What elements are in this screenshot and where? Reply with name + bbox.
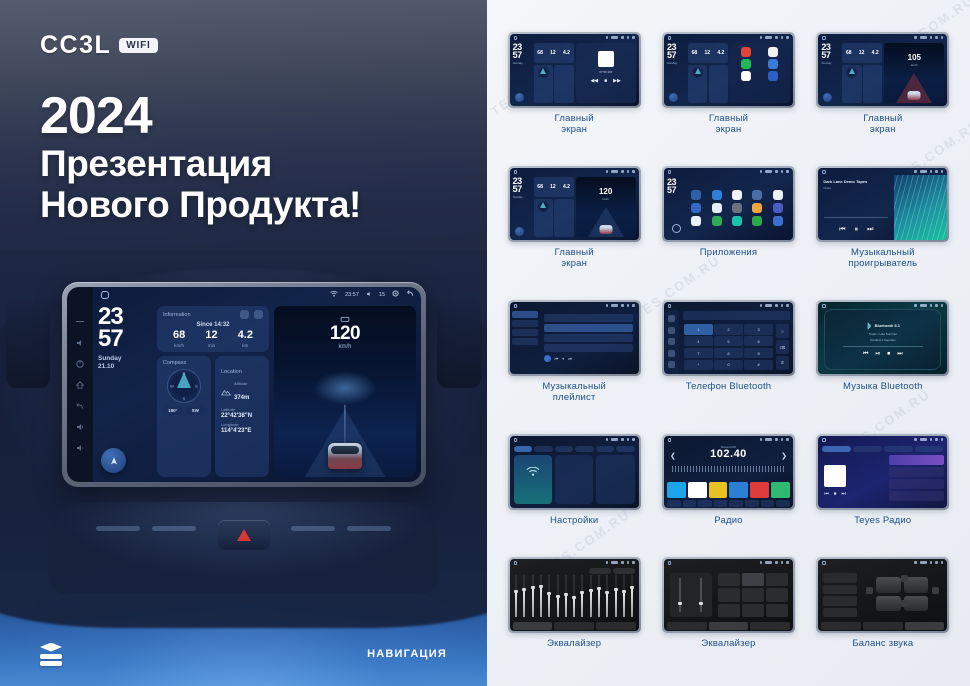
toolbar-button[interactable]: [714, 500, 728, 507]
number-display: [683, 311, 790, 320]
center-console: [48, 502, 439, 594]
mute-icon[interactable]: [75, 338, 85, 348]
widgets-column: 68 12 4.2: [842, 43, 882, 103]
next-icon[interactable]: ▶▶: [613, 78, 621, 84]
preset-button[interactable]: [823, 573, 857, 583]
playback-controls[interactable]: ⏮ ⏯ ⏹ ⏭: [863, 351, 903, 358]
list-item[interactable]: [889, 479, 945, 489]
preset-button[interactable]: [766, 573, 788, 586]
preset-button[interactable]: [742, 604, 764, 617]
stat-value: 12: [550, 50, 556, 56]
tab-eq[interactable]: [667, 622, 707, 630]
thumbnail-frame[interactable]: 23 57 Sunday 68 12 4.2: [508, 166, 641, 242]
app-icon[interactable]: [691, 190, 701, 200]
screen-thumbnail-home-music[interactable]: 23 57 Sunday 68 12 4.2: [510, 34, 639, 106]
preset-button[interactable]: [589, 568, 611, 574]
dialpad[interactable]: 1 2 3 4 5 6 7 8 9 *: [681, 321, 776, 373]
thumbnail-body: 23 57 Sunday 68 12 4.2: [510, 175, 639, 240]
volume-down-icon[interactable]: [75, 443, 85, 453]
clock-widget: 23 57 Sunday: [513, 177, 532, 237]
next-icon[interactable]: ⏭: [897, 351, 902, 358]
app-grid[interactable]: [684, 178, 790, 237]
app-icon[interactable]: [741, 59, 751, 69]
brand-name: CC3L: [40, 33, 111, 58]
favorite-icon[interactable]: ☆: [776, 324, 789, 338]
app-icon[interactable]: [773, 190, 783, 200]
dial-key[interactable]: 5: [714, 336, 743, 346]
thumbnail-caption: Музыкальный плейлист: [542, 381, 606, 403]
mini-player-bar[interactable]: ⏮ ⏸ ⏭: [544, 355, 633, 362]
information-card: 68 12 4.2: [534, 43, 574, 63]
app-icon[interactable]: [768, 59, 778, 69]
eq-band[interactable]: [515, 575, 518, 617]
speed-value: 105: [884, 53, 944, 62]
gallery-item[interactable]: Эквалайзер: [655, 557, 801, 676]
back-icon[interactable]: [75, 401, 85, 411]
more-tile[interactable]: [596, 455, 634, 504]
thumbnail-frame[interactable]: Bluetooth 5.1 Tropic • Like Summer Cardo…: [816, 300, 949, 376]
hero-footer: НАВИГАЦИЯ: [0, 622, 487, 686]
phone-side-rail[interactable]: [665, 310, 679, 373]
tab-tone[interactable]: [750, 622, 790, 630]
app-icon[interactable]: [768, 47, 778, 57]
next-icon[interactable]: ⏭: [867, 226, 873, 234]
playlist-body[interactable]: ⏮ ⏸ ⏭: [510, 309, 639, 374]
call-icon[interactable]: ✆: [776, 356, 789, 370]
play-pause-icon[interactable]: ⏯: [875, 351, 880, 358]
app-icon[interactable]: [768, 71, 778, 81]
thumbnail-body: 23 57 Sunday 68 12 4.2: [510, 41, 639, 106]
stop-icon[interactable]: ⏹: [834, 491, 837, 497]
navigation-fab-button[interactable]: [515, 227, 524, 236]
thumbnail-caption: Teyes Радио: [854, 515, 911, 526]
preset-button[interactable]: [823, 585, 857, 595]
preset-station[interactable]: [729, 482, 748, 498]
treble-slider[interactable]: [700, 578, 702, 611]
layers-icon: [40, 643, 62, 666]
app-icon[interactable]: [691, 216, 701, 226]
tone-sliders[interactable]: [670, 573, 712, 617]
preset-button[interactable]: [613, 568, 635, 574]
pause-icon[interactable]: ⏸: [562, 356, 564, 361]
wifi-badge: WIFI: [119, 38, 157, 53]
clock-minutes: 57: [513, 185, 532, 193]
call-log-icon[interactable]: [668, 350, 675, 357]
tab-eq[interactable]: [821, 622, 861, 630]
app-icon[interactable]: [773, 203, 783, 213]
stat-value: 4.2: [563, 184, 570, 190]
app-icon[interactable]: [732, 203, 742, 213]
seat-front-left[interactable]: [876, 577, 901, 593]
home-icon[interactable]: [75, 380, 85, 390]
equalizer-bands[interactable]: [515, 575, 634, 617]
screen-thumbnail-music-player[interactable]: Dark Lane Demo Tapes Drake ⏮ ⏸ ⏭: [818, 168, 947, 240]
screen-thumbnail-equalizer-bands[interactable]: [510, 559, 639, 631]
eq-band[interactable]: [531, 575, 534, 617]
toolbar-button[interactable]: [698, 500, 712, 507]
thumbnail-caption: Музыка Bluetooth: [843, 381, 923, 392]
settings-tabs[interactable]: [510, 443, 639, 452]
seat-rear-left[interactable]: [876, 596, 901, 612]
app-icon[interactable]: [732, 216, 742, 226]
gallery-item[interactable]: Recent FM ❮ ❯ 102.40: [655, 434, 801, 553]
dial-key[interactable]: 2: [714, 324, 743, 334]
preset-station[interactable]: [750, 482, 769, 498]
gallery-item[interactable]: 23 57: [655, 166, 801, 296]
balance-right-button[interactable]: [932, 587, 939, 594]
previous-icon[interactable]: ⏮: [839, 226, 845, 234]
compass-dial: [538, 67, 549, 78]
frequency-scale[interactable]: [672, 466, 785, 472]
gallery-item[interactable]: 23 57 Sunday 68 12 4.2: [501, 32, 647, 162]
gallery-item[interactable]: Эквалайзер: [501, 557, 647, 676]
app-icon[interactable]: [773, 216, 783, 226]
eq-band[interactable]: [548, 575, 551, 617]
player-pane[interactable]: Dark Lane Demo Tapes Drake ⏮ ⏸ ⏭: [818, 175, 947, 240]
balance-presets[interactable]: [823, 573, 857, 617]
list-item[interactable]: [889, 467, 945, 477]
bass-slider[interactable]: [679, 578, 681, 611]
thumbnail-frame[interactable]: [662, 557, 795, 633]
thumbnail-frame[interactable]: ⏮ ⏸ ⏭: [508, 300, 641, 376]
stat-value: 4.2: [872, 50, 879, 56]
information-card[interactable]: Information Since 14:32 68: [157, 306, 269, 352]
clock-minutes: 57: [98, 328, 152, 350]
tab-tone[interactable]: [905, 622, 945, 630]
thumbnail-frame[interactable]: [816, 557, 949, 633]
preset-button[interactable]: [718, 604, 740, 617]
stat-value: 4.2: [717, 50, 724, 56]
settings-icon[interactable]: [668, 361, 675, 368]
longitude-label: Longitude: [221, 422, 263, 427]
dial-key[interactable]: 4: [684, 336, 713, 346]
playback-controls[interactable]: ◀◀■▶▶: [576, 78, 636, 84]
app-icon[interactable]: [752, 203, 762, 213]
thumbnail-frame[interactable]: ⏮ ⏹ ⏭: [816, 434, 949, 510]
dial-key[interactable]: 6: [744, 336, 773, 346]
screen-thumbnail-teyes-radio[interactable]: ⏮ ⏹ ⏭: [818, 436, 947, 508]
eq-band[interactable]: [523, 575, 526, 617]
preset-button[interactable]: [766, 588, 788, 601]
list-item[interactable]: [544, 314, 633, 322]
head-unit[interactable]: 23:57 15: [62, 282, 426, 487]
thumbnail-frame[interactable]: 23 57: [662, 166, 795, 242]
radio-toolbar[interactable]: [667, 500, 790, 507]
station-list[interactable]: [889, 452, 948, 508]
eq-presets[interactable]: [589, 568, 635, 574]
power-icon[interactable]: [75, 359, 85, 369]
list-item[interactable]: [544, 334, 633, 342]
screen-thumbnail-home-apps[interactable]: 23 57 Sunday 68 12 4.2: [664, 34, 793, 106]
speed-unit: km/h: [576, 197, 636, 201]
tab-eq[interactable]: [513, 622, 553, 630]
clock-minutes: 57: [667, 186, 684, 194]
thumbnail-frame[interactable]: 23 57 Sunday 68 12 4.2: [662, 32, 795, 108]
clock-day: Sunday: [667, 62, 686, 66]
dial-key[interactable]: *: [684, 360, 713, 370]
status-bar: [510, 559, 639, 566]
compass-title: Compass: [163, 360, 205, 366]
preset-button[interactable]: [766, 604, 788, 617]
eq-tabs[interactable]: [821, 622, 944, 630]
hazard-light-button[interactable]: [218, 520, 270, 550]
carplay-tile[interactable]: [555, 455, 593, 504]
screen-thumbnail-radio[interactable]: Recent FM ❮ ❯ 102.40: [664, 436, 793, 508]
toolbar-button[interactable]: [729, 500, 743, 507]
eq-band[interactable]: [564, 575, 567, 617]
preset-grid[interactable]: [718, 573, 788, 617]
balance-up-button[interactable]: [901, 575, 908, 582]
preset-station[interactable]: [667, 482, 686, 498]
dial-key[interactable]: 0: [714, 360, 743, 370]
app-icon[interactable]: [691, 203, 701, 213]
app-icon[interactable]: [741, 47, 751, 57]
assistant-icon[interactable]: [392, 290, 399, 299]
navigation-fab-button[interactable]: [515, 93, 524, 102]
tab-sound-field[interactable]: [554, 622, 594, 630]
previous-icon[interactable]: ◀◀: [590, 78, 598, 84]
thumbnail-frame[interactable]: 23 57 Sunday 68 12 4.2: [508, 32, 641, 108]
next-icon[interactable]: ⏭: [568, 356, 572, 361]
stop-icon[interactable]: ⏹: [887, 351, 890, 358]
album-art: [544, 355, 551, 362]
category-item[interactable]: [512, 338, 538, 345]
toolbar-button[interactable]: [683, 500, 697, 507]
tab-sound-field[interactable]: [863, 622, 903, 630]
eq-band[interactable]: [606, 575, 609, 617]
eq-tabs[interactable]: [667, 622, 790, 630]
thumbnail-frame[interactable]: Dark Lane Demo Tapes Drake ⏮ ⏸ ⏭: [816, 166, 949, 242]
eq-band[interactable]: [581, 575, 584, 617]
clock-widget: 23 57: [667, 178, 684, 237]
eq-band[interactable]: [556, 575, 559, 617]
console-button[interactable]: [96, 526, 140, 531]
screen-thumbnail-equalizer-presets[interactable]: [664, 559, 793, 631]
gallery-item[interactable]: Баланс звука: [810, 557, 956, 676]
contacts-icon[interactable]: [668, 327, 675, 334]
dial-key[interactable]: 8: [714, 348, 743, 358]
bluetooth-player-card[interactable]: Bluetooth 5.1 Tropic • Like Summer Cardo…: [824, 309, 941, 370]
eq-band[interactable]: [622, 575, 625, 617]
toolbar-button[interactable]: [776, 500, 790, 507]
playback-controls[interactable]: ⏮ ⏸ ⏭: [818, 226, 894, 234]
gallery-item[interactable]: 1 2 3 4 5 6 7 8 9 *: [655, 300, 801, 430]
status-bar: [510, 302, 639, 309]
dial-key[interactable]: #: [744, 360, 773, 370]
preset-button[interactable]: [718, 573, 740, 586]
eq-band[interactable]: [589, 575, 592, 617]
speed-hud-widget[interactable]: 120 km/h: [274, 306, 416, 477]
thumbnail-frame[interactable]: 1 2 3 4 5 6 7 8 9 *: [662, 300, 795, 376]
eq-band[interactable]: [614, 575, 617, 617]
compass-w: W: [170, 384, 174, 389]
tab-sound-field[interactable]: [709, 622, 749, 630]
app-icon[interactable]: [752, 216, 762, 226]
stat-unit: km/h: [173, 343, 185, 348]
dial-key[interactable]: 7: [684, 348, 713, 358]
dial-key[interactable]: 1: [684, 324, 713, 334]
car-dashboard: 23:57 15: [0, 240, 487, 686]
preset-button[interactable]: [823, 596, 857, 606]
back-icon[interactable]: [672, 224, 681, 233]
previous-icon[interactable]: ⏮: [863, 351, 868, 358]
list-item[interactable]: [544, 344, 633, 352]
preset-button[interactable]: [742, 573, 764, 586]
eq-band[interactable]: [573, 575, 576, 617]
balance-down-button[interactable]: [901, 600, 908, 607]
screen-thumbnail-home-speed[interactable]: 23 57 Sunday 68 12 4.2: [818, 34, 947, 106]
clock-widget[interactable]: 23 57 Sunday 21.10: [98, 306, 152, 477]
console-button[interactable]: [152, 526, 196, 531]
list-item[interactable]: [889, 491, 945, 501]
gallery-item[interactable]: ⏮ ⏸ ⏭ Музыкальный плейлист: [501, 300, 647, 430]
balance-left-button[interactable]: [866, 587, 873, 594]
gallery-item[interactable]: ⏮ ⏹ ⏭: [810, 434, 956, 553]
pause-icon[interactable]: ⏸: [855, 226, 859, 234]
gallery-item[interactable]: Bluetooth 5.1 Tropic • Like Summer Cardo…: [810, 300, 956, 430]
status-bar: [664, 302, 793, 309]
dialpad-icon[interactable]: [668, 315, 675, 322]
phone-actions[interactable]: ☆ ⌫ ✆: [776, 321, 792, 373]
track-title: Dark Lane Demo Tapes: [823, 179, 889, 184]
screen-thumbnail-apps[interactable]: 23 57: [664, 168, 793, 240]
dial-key[interactable]: 9: [744, 348, 773, 358]
location-card: [554, 65, 573, 104]
screen-thumbnail-settings[interactable]: [510, 436, 639, 508]
since-label: Since 14:32: [163, 322, 263, 328]
progress-bar[interactable]: [843, 346, 924, 347]
category-item[interactable]: [512, 320, 538, 327]
track-artist: Drake: [823, 186, 889, 190]
screen-thumbnail-sound-balance[interactable]: [818, 559, 947, 631]
toolbar-button[interactable]: [745, 500, 759, 507]
stop-icon[interactable]: ■: [604, 78, 607, 84]
thumbnail-caption: Эквалайзер: [701, 638, 755, 649]
stat-value: 4.2: [563, 50, 570, 56]
preset-station[interactable]: [709, 482, 728, 498]
gallery-item[interactable]: Настройки: [501, 434, 647, 553]
back-icon[interactable]: [406, 290, 414, 299]
console-button[interactable]: [347, 526, 391, 531]
previous-icon[interactable]: ⏮: [555, 356, 559, 361]
app-icon[interactable]: [712, 203, 722, 213]
backspace-icon[interactable]: ⌫: [776, 340, 789, 354]
playlist-categories[interactable]: [512, 311, 538, 372]
navigation-fab-button[interactable]: [101, 448, 126, 473]
compass-card[interactable]: Compass N E S W 180°: [157, 356, 211, 477]
screen-thumbnail-playlist[interactable]: ⏮ ⏸ ⏭: [510, 302, 639, 374]
screen-thumbnail-bluetooth-music[interactable]: Bluetooth 5.1 Tropic • Like Summer Cardo…: [818, 302, 947, 374]
volume-up-icon[interactable]: [75, 422, 85, 432]
expand-icon[interactable]: [254, 310, 263, 319]
refresh-icon[interactable]: [240, 310, 249, 319]
eq-band[interactable]: [631, 575, 634, 617]
status-bar: [664, 34, 793, 41]
speed-value: 120: [576, 187, 636, 196]
app-shortcuts[interactable]: [730, 43, 790, 103]
next-icon[interactable]: ⏭: [841, 491, 846, 497]
gallery-item[interactable]: 23 57 Sunday 68 12 4.2: [810, 32, 956, 162]
console-button[interactable]: [291, 526, 335, 531]
preset-button[interactable]: [823, 608, 857, 618]
dial-key[interactable]: 3: [744, 324, 773, 334]
preset-button[interactable]: [742, 588, 764, 601]
track-list[interactable]: ⏮ ⏸ ⏭: [540, 311, 637, 372]
screen-thumbnail-home-speed-2[interactable]: 23 57 Sunday 68 12 4.2: [510, 168, 639, 240]
thumbnail-caption: Баланс звука: [852, 638, 913, 649]
compass-heading: 180°: [163, 406, 183, 415]
gallery-item[interactable]: 23 57 Sunday 68 12 4.2: [501, 166, 647, 296]
app-icon[interactable]: [732, 190, 742, 200]
thumbnail-frame[interactable]: 23 57 Sunday 68 12 4.2: [816, 32, 949, 108]
phone-body[interactable]: 1 2 3 4 5 6 7 8 9 *: [664, 309, 793, 374]
head-unit-screen[interactable]: 23:57 15: [93, 287, 421, 482]
progress-bar[interactable]: [824, 217, 888, 219]
location-card: [554, 199, 573, 238]
speed-value: 120: [274, 324, 416, 343]
teyes-tabs[interactable]: [818, 443, 947, 452]
thumbnail-caption: Радио: [714, 515, 742, 526]
eq-band[interactable]: [540, 575, 543, 617]
stat-value: 12: [205, 330, 217, 341]
search-icon[interactable]: [668, 338, 675, 345]
navigation-fab-button[interactable]: [669, 93, 678, 102]
eq-band[interactable]: [597, 575, 600, 617]
navigation-fab-button[interactable]: [823, 93, 832, 102]
location-card[interactable]: Location Altitude 374m: [215, 356, 269, 477]
toolbar-button[interactable]: [667, 500, 681, 507]
wifi-tile[interactable]: [514, 455, 552, 504]
app-icon[interactable]: [712, 216, 722, 226]
menu-icon[interactable]: [75, 317, 85, 327]
preset-station[interactable]: [771, 482, 790, 498]
list-item[interactable]: [889, 455, 945, 465]
apps-drawer[interactable]: 23 57: [664, 175, 793, 240]
stat-value: 12: [704, 50, 710, 56]
previous-icon[interactable]: ⏮: [824, 491, 829, 497]
tab-tone[interactable]: [596, 622, 636, 630]
road-glow: [313, 371, 377, 405]
clock-widget: 23 57 Sunday: [513, 43, 532, 103]
eq-tabs[interactable]: [513, 622, 636, 630]
clock-date: 21.10: [98, 363, 152, 371]
radio-presets[interactable]: [667, 482, 790, 498]
thumbnail-frame[interactable]: [508, 557, 641, 633]
gallery-item[interactable]: Dark Lane Demo Tapes Drake ⏮ ⏸ ⏭: [810, 166, 956, 296]
app-icon[interactable]: [752, 190, 762, 200]
navigation-label: НАВИГАЦИЯ: [367, 648, 447, 660]
preset-button[interactable]: [718, 588, 740, 601]
app-icon[interactable]: [712, 190, 722, 200]
settings-tiles[interactable]: [510, 452, 639, 508]
category-item[interactable]: [512, 311, 538, 318]
category-item[interactable]: [512, 329, 538, 336]
app-icon[interactable]: [741, 71, 751, 81]
gallery-item[interactable]: 23 57 Sunday 68 12 4.2: [655, 32, 801, 162]
head-unit-side-keys[interactable]: [67, 287, 93, 482]
status-bar: [664, 559, 793, 566]
thumbnail-frame[interactable]: [508, 434, 641, 510]
screen-thumbnail-bluetooth-phone[interactable]: 1 2 3 4 5 6 7 8 9 *: [664, 302, 793, 374]
status-volume: 15: [379, 292, 385, 298]
thumbnail-frame[interactable]: Recent FM ❮ ❯ 102.40: [662, 434, 795, 510]
list-item[interactable]: [544, 324, 633, 332]
information-card: 68 12 4.2: [534, 177, 574, 197]
track-artist: Cardozo's favorites: [870, 338, 896, 342]
preset-station[interactable]: [688, 482, 707, 498]
playback-controls[interactable]: ⏮ ⏹ ⏭: [824, 491, 885, 497]
toolbar-button[interactable]: [761, 500, 775, 507]
